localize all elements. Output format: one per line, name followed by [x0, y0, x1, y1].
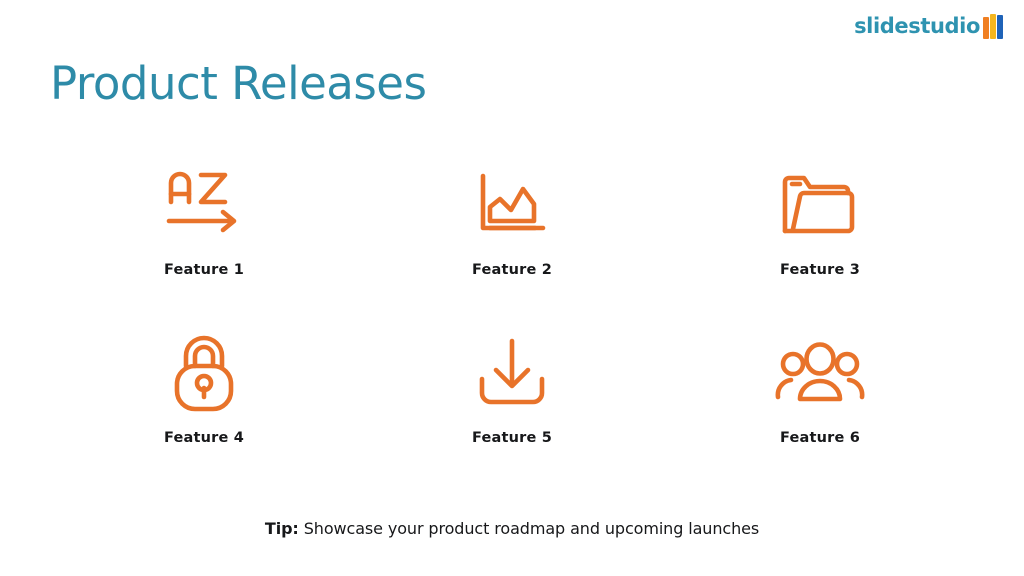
logo-bar-yellow: [990, 14, 996, 39]
sort-alpha-az-arrow-icon: [163, 160, 245, 252]
page-title: Product Releases: [50, 58, 426, 110]
feature-cell-2: Feature 2: [358, 160, 666, 328]
logo-bar-blue: [997, 15, 1003, 39]
open-folder-icon: [778, 160, 862, 252]
feature-label: Feature 4: [164, 430, 244, 446]
logo-bar-orange: [983, 17, 989, 39]
tip-label: Tip:: [265, 519, 299, 538]
tip-line: Tip: Showcase your product roadmap and u…: [0, 519, 1024, 538]
feature-cell-1: Feature 1: [50, 160, 358, 328]
feature-label: Feature 5: [472, 430, 552, 446]
feature-cell-3: Feature 3: [666, 160, 974, 328]
brand-logo-text: slidestudio: [854, 16, 980, 37]
slide-canvas: slidestudio Product Releases: [0, 0, 1024, 576]
feature-label: Feature 1: [164, 262, 244, 278]
feature-label: Feature 3: [780, 262, 860, 278]
brand-logo-mark-icon: [983, 14, 1003, 39]
padlock-icon: [171, 328, 237, 420]
brand-logo: slidestudio: [854, 14, 1003, 39]
feature-cell-5: Feature 5: [358, 328, 666, 496]
feature-cell-6: Feature 6: [666, 328, 974, 496]
download-tray-icon: [472, 328, 552, 420]
feature-cell-4: Feature 4: [50, 328, 358, 496]
tip-text: Showcase your product roadmap and upcomi…: [304, 519, 759, 538]
user-group-icon: [774, 328, 866, 420]
area-chart-icon: [473, 160, 551, 252]
feature-label: Feature 2: [472, 262, 552, 278]
feature-label: Feature 6: [780, 430, 860, 446]
feature-grid: Feature 1 Feature 2 Featur: [50, 160, 974, 496]
